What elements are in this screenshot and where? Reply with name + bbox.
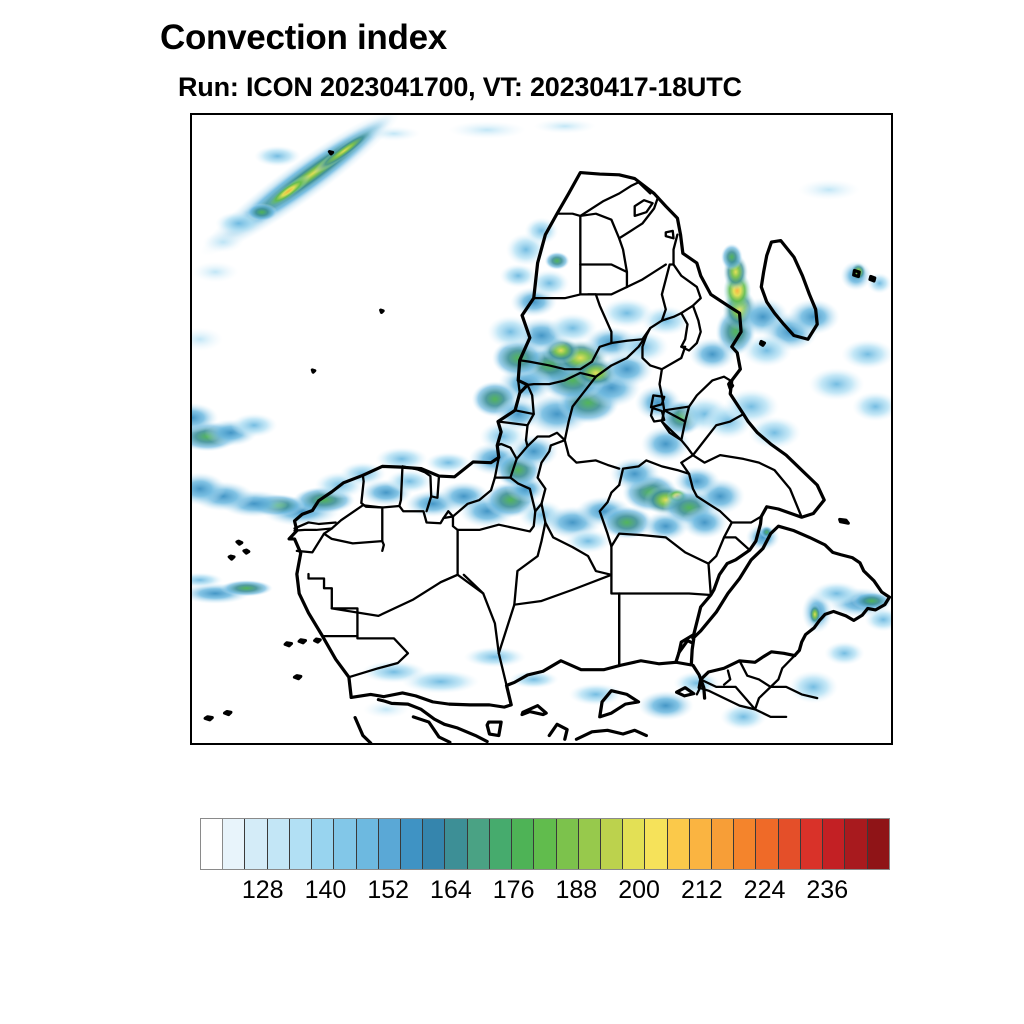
xtick-top-10w	[348, 113, 350, 115]
ytick-major-0	[190, 397, 192, 399]
xtick-top-30w	[192, 113, 194, 115]
colorbar-label-224: 224	[744, 876, 786, 905]
ytick-minor-10s-right	[891, 472, 893, 474]
ytick-major-0-right	[891, 397, 893, 399]
ytick-major-30n-right	[891, 171, 893, 173]
xtick-major-30e	[660, 743, 662, 745]
map-svg	[192, 115, 891, 743]
colorbar-label-200: 200	[618, 876, 660, 905]
xtick-major-0	[426, 743, 428, 745]
colorbar-cell-24[interactable]	[734, 819, 756, 869]
xtick-top-20e	[582, 113, 584, 115]
colorbar-label-128: 128	[242, 876, 284, 905]
colorbar-cell-28[interactable]	[823, 819, 845, 869]
colorbar-label-176: 176	[493, 876, 535, 905]
page-title: Convection index	[160, 18, 447, 58]
colorbar-cell-0[interactable]	[201, 819, 223, 869]
ytick-major-30s-right	[891, 623, 893, 625]
colorbar-cell-16[interactable]	[557, 819, 579, 869]
colorbar-cell-8[interactable]	[379, 819, 401, 869]
colorbar-cell-5[interactable]	[312, 819, 334, 869]
ytick-minor-20n	[190, 246, 192, 248]
colorbar-cell-11[interactable]	[445, 819, 467, 869]
run-valid-time-subtitle: Run: ICON 2023041700, VT: 20230417-18UTC	[178, 72, 742, 103]
map-canvas	[192, 115, 891, 743]
colorbar-cell-25[interactable]	[756, 819, 778, 869]
ytick-minor-10n-right	[891, 321, 893, 323]
colorbar-cell-19[interactable]	[623, 819, 645, 869]
xtick-top-40e	[738, 113, 740, 115]
colorbar-cell-18[interactable]	[601, 819, 623, 869]
colorbar-cell-15[interactable]	[534, 819, 556, 869]
colorbar-cell-17[interactable]	[579, 819, 601, 869]
xtick-top-30e	[660, 113, 662, 115]
xtick-minor-50e	[816, 743, 818, 745]
xtick-top-0	[426, 113, 428, 115]
colorbar-cell-22[interactable]	[690, 819, 712, 869]
colorbar-label-236: 236	[806, 876, 848, 905]
colorbar-cell-27[interactable]	[801, 819, 823, 869]
colorbar-cells[interactable]	[200, 818, 890, 870]
colorbar-cell-1[interactable]	[223, 819, 245, 869]
ytick-minor-20n-right	[891, 246, 893, 248]
xtick-top-20w	[270, 113, 272, 115]
colorbar-cell-14[interactable]	[512, 819, 534, 869]
colorbar-cell-13[interactable]	[490, 819, 512, 869]
colorbar-label-140: 140	[305, 876, 347, 905]
colorbar-cell-2[interactable]	[245, 819, 267, 869]
colorbar[interactable]	[200, 818, 890, 870]
xtick-minor-40e	[738, 743, 740, 745]
colorbar-cell-26[interactable]	[779, 819, 801, 869]
ytick-minor-20s	[190, 547, 192, 549]
xtick-top-10e	[504, 113, 506, 115]
ytick-minor-20s-right	[891, 547, 893, 549]
colorbar-cell-3[interactable]	[268, 819, 290, 869]
colorbar-cell-29[interactable]	[845, 819, 867, 869]
xtick-minor-20w	[270, 743, 272, 745]
ytick-minor-10s	[190, 472, 192, 474]
ytick-major-30n	[190, 171, 192, 173]
colorbar-cell-12[interactable]	[468, 819, 490, 869]
xtick-top-50e	[816, 113, 818, 115]
colorbar-label-152: 152	[367, 876, 409, 905]
xtick-minor-10w	[348, 743, 350, 745]
colorbar-label-188: 188	[556, 876, 598, 905]
colorbar-cell-20[interactable]	[645, 819, 667, 869]
map-plot-area[interactable]: 30N 0 30S 30W 0 30E 60E	[190, 113, 893, 745]
colorbar-label-212: 212	[681, 876, 723, 905]
ytick-major-30s	[190, 623, 192, 625]
colorbar-cell-6[interactable]	[334, 819, 356, 869]
xtick-major-30w	[192, 743, 194, 745]
colorbar-cell-7[interactable]	[357, 819, 379, 869]
colorbar-cell-10[interactable]	[423, 819, 445, 869]
colorbar-cell-4[interactable]	[290, 819, 312, 869]
colorbar-tick-labels: 128140152164176188200212224236	[0, 876, 1024, 910]
xtick-minor-10e	[504, 743, 506, 745]
colorbar-cell-9[interactable]	[401, 819, 423, 869]
colorbar-cell-21[interactable]	[668, 819, 690, 869]
xtick-minor-20e	[582, 743, 584, 745]
colorbar-cell-30[interactable]	[868, 819, 889, 869]
colorbar-cell-23[interactable]	[712, 819, 734, 869]
convection-field	[192, 115, 891, 730]
colorbar-label-164: 164	[430, 876, 472, 905]
ytick-minor-10n	[190, 321, 192, 323]
